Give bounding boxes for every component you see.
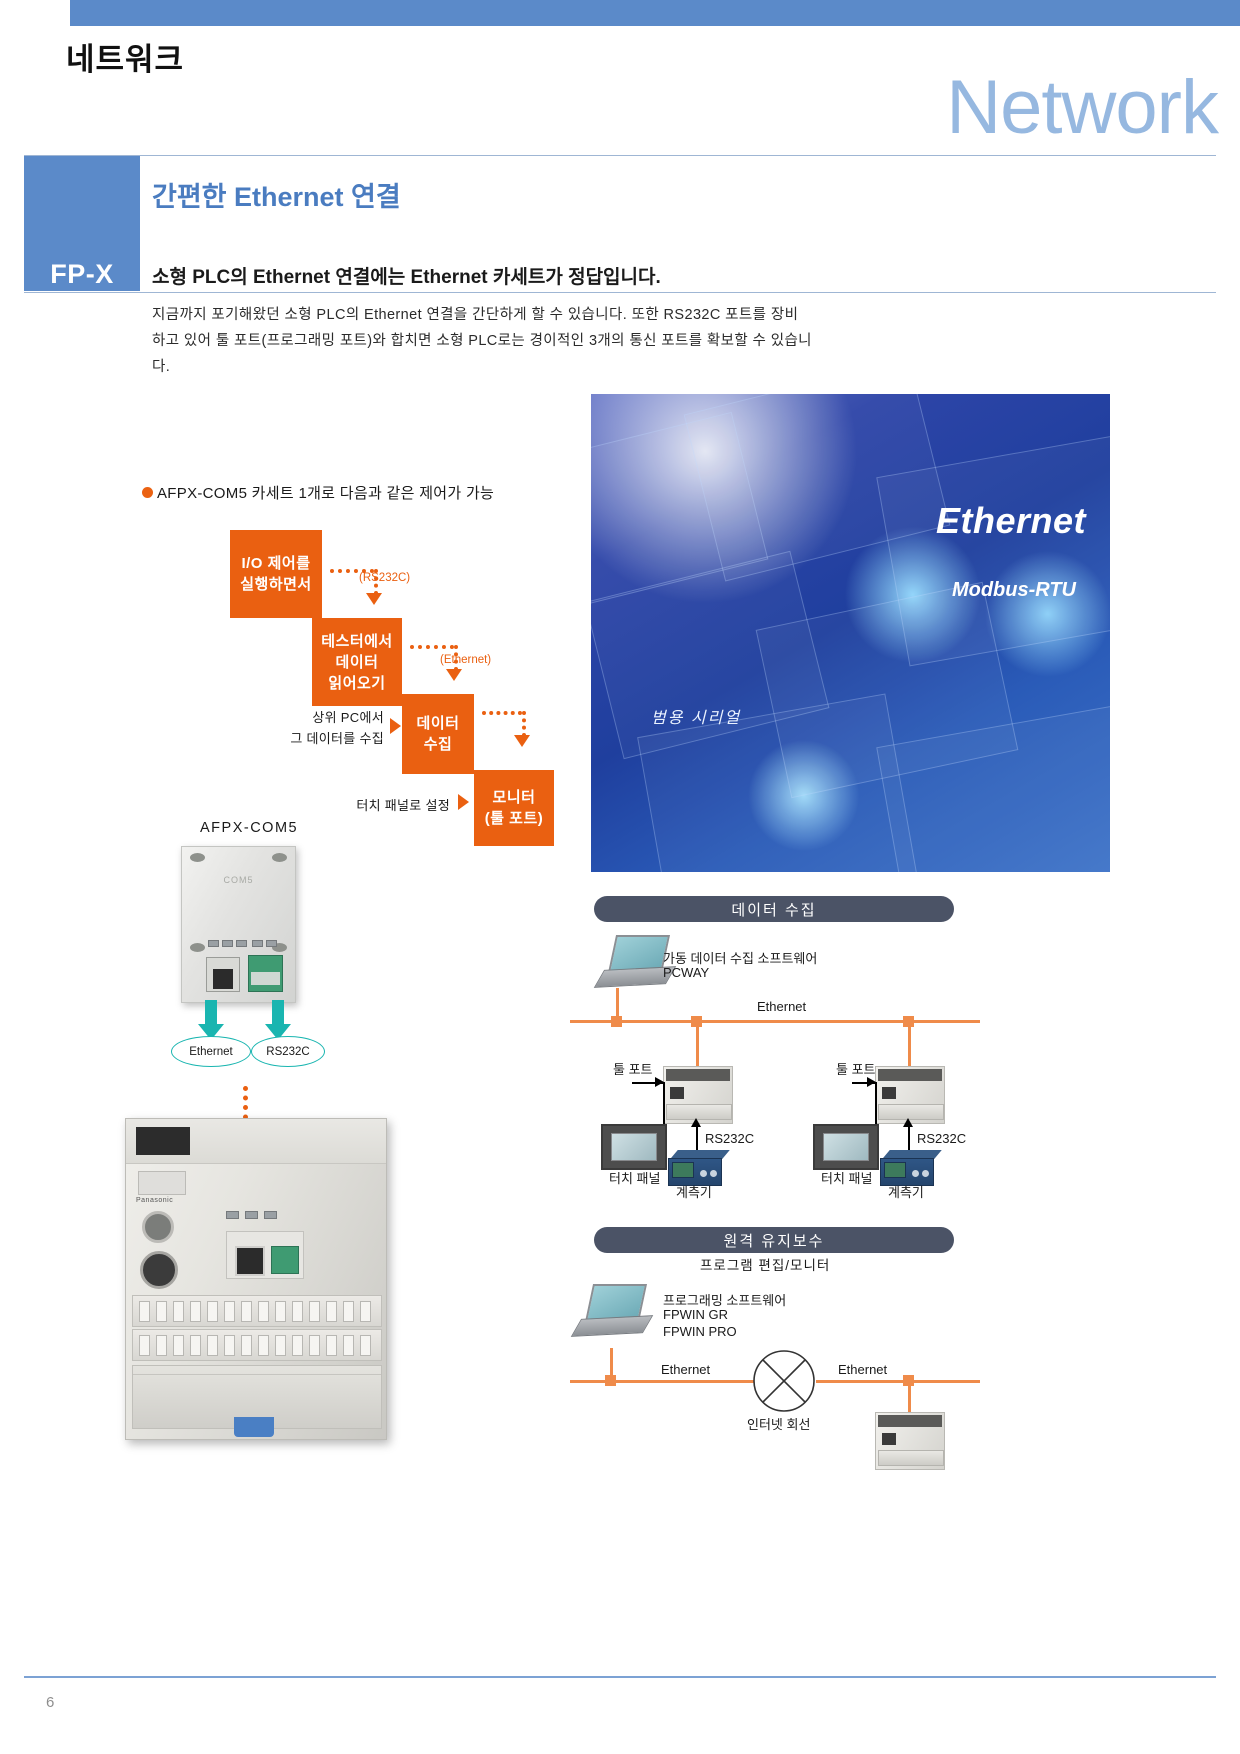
plc-din-rail-tab — [234, 1417, 274, 1437]
laptop-fpwin-icon — [575, 1284, 649, 1336]
flow-side-arrow-touch-icon — [458, 794, 469, 810]
label-internet-line: 인터넷 회선 — [747, 1414, 810, 1433]
label-rs232c-right: RS232C — [917, 1131, 966, 1146]
ethernet-node-plc-right — [903, 1016, 914, 1027]
flow-side-pc-line2: 그 데이터를 수집 — [290, 731, 384, 746]
bullet-dot-icon — [142, 487, 153, 498]
label-prog-software-line3: FPWIN PRO — [663, 1324, 737, 1339]
ethernet-node-laptop — [611, 1016, 622, 1027]
hero-modbus-label: Modbus-RTU — [952, 579, 1076, 602]
flow-box-2-line1: 테스터에서 — [321, 633, 393, 650]
section-lead: 소형 PLC의 Ethernet 연결에는 Ethernet 카세트가 정답입니… — [152, 262, 661, 289]
header-divider — [24, 155, 1216, 156]
cassette-led-5 — [266, 940, 277, 947]
plc-small-right — [875, 1066, 945, 1124]
flow-bullet-heading: AFPX-COM5 카세트 1개로 다음과 같은 제어가 가능 — [142, 482, 494, 503]
label-pcway-software-line2: PCWAY — [663, 965, 709, 980]
ethernet-line-remote-right — [816, 1380, 980, 1383]
fp-x-plc-photo: Panasonic — [125, 1118, 387, 1440]
touch-panel-left — [601, 1124, 667, 1170]
section-body-text: 지금까지 포기해왔던 소형 PLC의 Ethernet 연결을 간단하게 할 수… — [152, 302, 812, 380]
flow-box-4-line1: 모니터 — [493, 789, 536, 806]
brochure-page: 네트워크 Network FP-X 간편한 Ethernet 연결 소형 PLC… — [0, 0, 1240, 1754]
section-divider — [24, 292, 1216, 293]
port-badge-rs232c: RS232C — [251, 1036, 325, 1067]
plc-terminal-row-2 — [132, 1329, 382, 1361]
ethernet-line-remote-left — [570, 1380, 760, 1383]
cassette-led-1 — [208, 940, 219, 947]
meter-right-icon — [880, 1150, 938, 1186]
plc-cassette-rj45 — [235, 1246, 265, 1276]
flow-box-4: 모니터 (툴 포트) — [474, 770, 554, 846]
label-ethernet-remote-right: Ethernet — [838, 1362, 887, 1377]
hero-ethernet-label: Ethernet — [936, 500, 1086, 542]
cassette-led-4 — [252, 940, 263, 947]
page-number: 6 — [46, 1694, 54, 1711]
ethernet-hero-image: Ethernet Modbus-RTU 범용 시리얼 — [591, 394, 1110, 872]
teal-arrow-rs232c-shaft — [272, 1000, 284, 1026]
flow-box-4-line2: (툴 포트) — [485, 810, 544, 827]
cassette-terminal-block — [248, 955, 283, 992]
pill-data-collection: 데이터 수집 — [594, 896, 954, 922]
afpx-com5-cassette-photo: COM5 — [181, 846, 296, 1003]
link-touch-left-arrow-icon — [655, 1077, 664, 1087]
teal-arrow-ethernet-shaft — [205, 1000, 217, 1026]
flow-box-1: I/O 제어를 실행하면서 — [230, 530, 322, 618]
cassette-screw-tl — [190, 853, 205, 862]
label-touch-panel-left: 터치 패널 — [609, 1168, 660, 1187]
ethernet-node-plc-left — [691, 1016, 702, 1027]
flow-connector-2-horizontal — [410, 645, 454, 649]
flow-arrow-1-icon — [366, 593, 382, 605]
link-meter-right-arrow-icon — [903, 1118, 913, 1127]
cassette-model-label: AFPX-COM5 — [200, 820, 298, 836]
flow-connector-3-horizontal — [482, 711, 522, 715]
flow-box-3-line1: 데이터 — [417, 715, 460, 732]
plc-small-remote — [875, 1412, 945, 1470]
label-meter-left: 계측기 — [676, 1182, 712, 1201]
header-blue-bar — [70, 0, 1240, 26]
plc-label-panel — [138, 1171, 186, 1195]
ethernet-node-plc-remote — [903, 1375, 914, 1386]
plc-din-connector — [140, 1251, 178, 1289]
label-ethernet-bus-dc: Ethernet — [757, 999, 806, 1014]
plc-brand-text: Panasonic — [136, 1197, 173, 1204]
label-meter-right: 계측기 — [888, 1182, 924, 1201]
touch-panel-right — [813, 1124, 879, 1170]
link-meter-left-arrow-icon — [691, 1118, 701, 1127]
meter-left-icon — [668, 1150, 726, 1186]
hero-serial-label: 범용 시리얼 — [651, 704, 741, 728]
label-ethernet-remote-left: Ethernet — [661, 1362, 710, 1377]
flow-box-2-line3: 읽어오기 — [328, 675, 385, 692]
plc-small-left — [663, 1066, 733, 1124]
label-prog-software-line2: FPWIN GR — [663, 1307, 728, 1322]
link-touch-right-arrow-icon — [867, 1077, 876, 1087]
flow-box-1-line2: 실행하면서 — [240, 576, 312, 593]
flow-side-label-touch: 터치 패널로 설정 — [330, 795, 450, 816]
flow-connector-2-label: (Ethernet) — [440, 654, 491, 666]
label-rs232c-left: RS232C — [705, 1131, 754, 1146]
cassette-led-2 — [222, 940, 233, 947]
plc-display-window — [136, 1127, 190, 1155]
label-touch-panel-right: 터치 패널 — [821, 1168, 872, 1187]
cassette-logo-text: COM5 — [182, 875, 295, 885]
flow-side-label-pc: 상위 PC에서 그 데이터를 수집 — [236, 707, 384, 749]
product-tag-fpx: FP-X — [24, 258, 140, 291]
pill-remote-maintenance: 원격 유지보수 — [594, 1227, 954, 1253]
label-tool-port-right: 툴 포트 — [836, 1059, 876, 1078]
cassette-rj45-port — [206, 957, 240, 992]
cassette-screw-tr — [272, 853, 287, 862]
flow-box-2: 테스터에서 데이터 읽어오기 — [312, 618, 402, 706]
flow-connector-3-vertical — [522, 711, 526, 737]
flow-box-3: 데이터 수집 — [402, 694, 474, 774]
label-tool-port-left: 툴 포트 — [613, 1059, 653, 1078]
cassette-led-3 — [236, 940, 247, 947]
plc-terminal-row-1 — [132, 1295, 382, 1327]
laptop-pcway-icon — [598, 935, 672, 987]
flow-arrow-2-icon — [446, 669, 462, 681]
flow-side-pc-line1: 상위 PC에서 — [312, 710, 384, 725]
plc-mounted-cassette — [226, 1231, 304, 1279]
label-remote-subtitle: 프로그램 편집/모니터 — [700, 1254, 830, 1274]
plc-round-port — [142, 1211, 174, 1243]
footer-divider — [24, 1676, 1216, 1678]
flow-heading-text: AFPX-COM5 카세트 1개로 다음과 같은 제어가 가능 — [157, 482, 494, 503]
flow-box-3-line2: 수집 — [424, 736, 453, 753]
plc-led-row — [226, 1211, 277, 1219]
flow-connector-1-label: (RS232C) — [359, 572, 410, 584]
internet-cloud-icon — [752, 1350, 816, 1414]
flow-box-1-line1: I/O 제어를 — [241, 555, 310, 572]
section-title: 간편한 Ethernet 연결 — [152, 175, 401, 214]
plc-cassette-terminal — [271, 1246, 299, 1274]
flow-arrow-3-icon — [514, 735, 530, 747]
flow-box-2-line2: 데이터 — [336, 654, 379, 671]
page-title-korean: 네트워크 — [66, 34, 184, 79]
page-title-english: Network — [946, 70, 1218, 146]
port-badge-ethernet: Ethernet — [171, 1036, 251, 1067]
ethernet-bus-line-dc — [570, 1020, 980, 1023]
ethernet-node-laptop-remote — [605, 1375, 616, 1386]
cassette-screw-bl — [190, 943, 205, 952]
flow-side-arrow-pc-icon — [390, 718, 401, 734]
